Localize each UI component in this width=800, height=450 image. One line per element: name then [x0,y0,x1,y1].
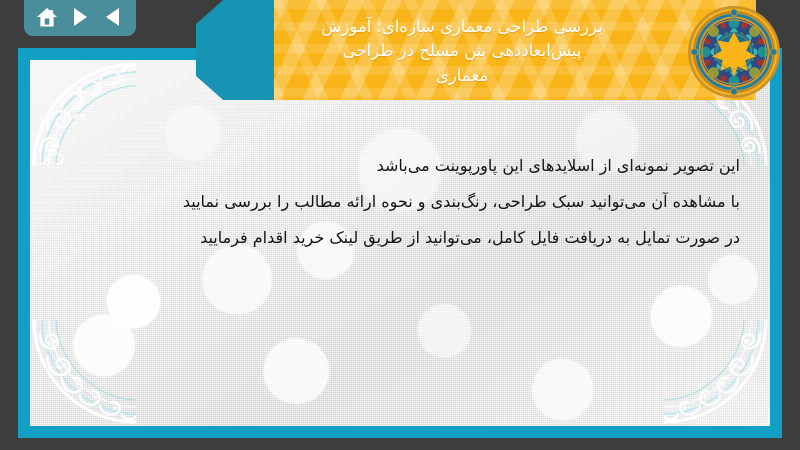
triangle-left-icon [104,7,122,27]
slide-body-text: این تصویر نمونه‌ای از اسلایدهای این پاور… [70,148,740,256]
title-line-1: بررسی طراحی معماری سازه‌ای؛ آموزش [321,15,603,39]
navigation-bar [24,0,136,36]
next-button[interactable] [66,4,94,30]
home-button[interactable] [33,4,61,30]
body-line-1: این تصویر نمونه‌ای از اسلایدهای این پاور… [70,148,740,184]
triangle-right-icon [71,7,89,27]
slide-title-ribbon: بررسی طراحی معماری سازه‌ای؛ آموزش پیش‌اب… [196,0,756,100]
home-icon [36,7,58,28]
previous-button[interactable] [99,4,127,30]
slide-canvas: این تصویر نمونه‌ای از اسلایدهای این پاور… [30,60,770,426]
persian-mandala-ornament-icon [686,4,782,100]
slide-frame: این تصویر نمونه‌ای از اسلایدهای این پاور… [18,48,782,438]
body-line-2: با مشاهده آن می‌توانید سبک طراحی، رنگ‌بن… [70,184,740,220]
title-line-3: معماری [436,64,488,88]
slide-viewer: این تصویر نمونه‌ای از اسلایدهای این پاور… [0,0,800,450]
body-line-3: در صورت تمایل به دریافت فایل کامل، می‌تو… [70,220,740,256]
page-title: بررسی طراحی معماری سازه‌ای؛ آموزش پیش‌اب… [196,0,756,100]
title-line-2: پیش‌ابعاددهی بتن مسلح در طراحی [343,39,582,63]
